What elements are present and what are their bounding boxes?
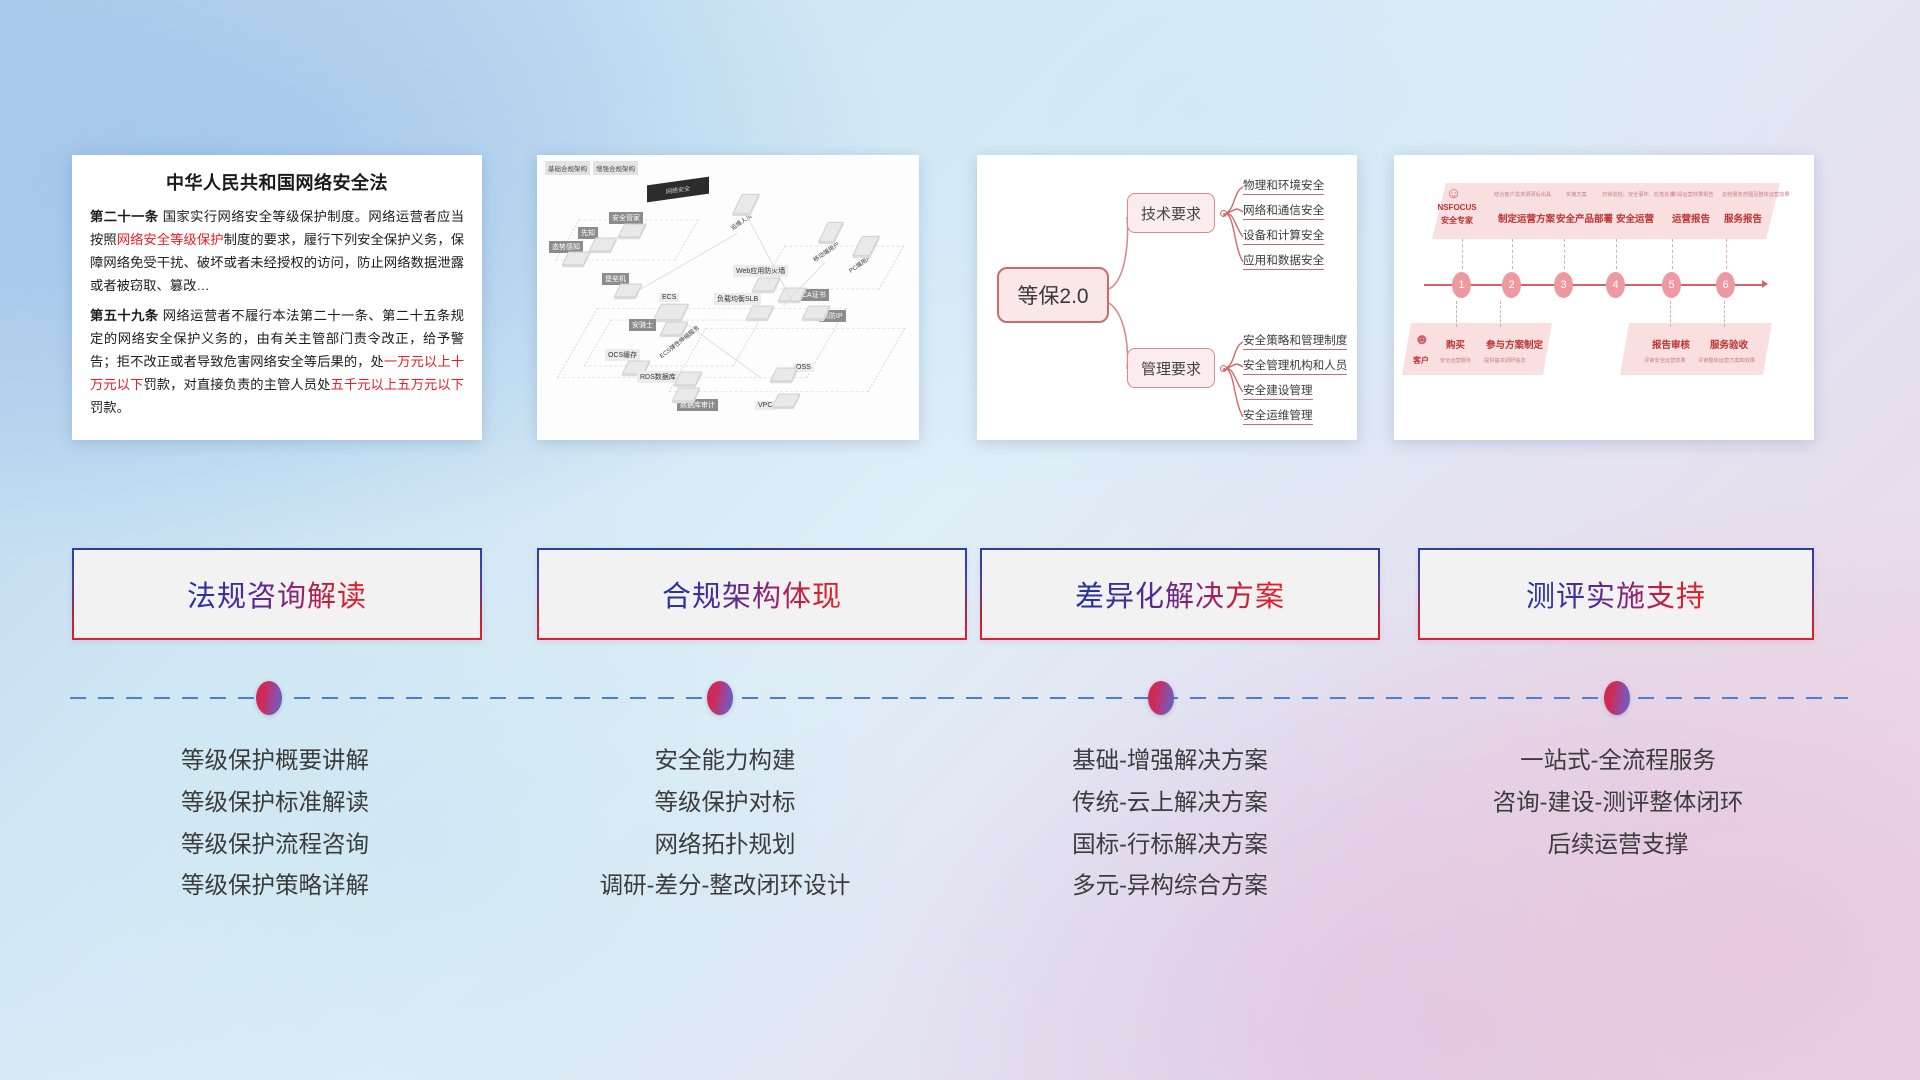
timeline-connector	[1672, 239, 1673, 269]
timeline-node-2[interactable]	[707, 681, 733, 715]
architecture-node-label: RDS数据库	[637, 371, 679, 383]
timeline-connector	[1724, 301, 1725, 327]
timeline-bottom-title: 购买	[1446, 337, 1465, 351]
customer-person-icon: ☻	[1414, 331, 1430, 348]
section-items-column-4: 一站式-全流程服务 咨询-建设-测评整体闭环 后续运营支撑	[1398, 740, 1838, 865]
section-items-column-1: 等级保护概要讲解 等级保护标准解读 等级保护流程咨询 等级保护策略详解	[60, 740, 490, 907]
timeline-bottom-title: 参与方案制定	[1486, 337, 1543, 351]
timeline-bottom-sub: 评审整体运营方案和效果	[1698, 357, 1755, 364]
architecture-tabs[interactable]: 基础合规架构 增强合规架构	[545, 161, 638, 175]
section-title-label: 合规架构体现	[662, 573, 842, 615]
timeline-band-bottom-right	[1620, 323, 1772, 375]
architecture-tab-enhanced[interactable]: 增强合规架构	[593, 161, 638, 175]
timeline-role-expert-line2: 安全专家	[1426, 215, 1488, 226]
timeline-connector	[1456, 301, 1457, 327]
section-title-box-4[interactable]: 测评实施支持	[1418, 548, 1814, 640]
architecture-node-label: 安全管家	[609, 212, 643, 224]
card-cybersecurity-law[interactable]: 中华人民共和国网络安全法 第二十一条 国家实行网络安全等级保护制度。网络运营者应…	[72, 155, 482, 440]
law-article-21: 第二十一条 国家实行网络安全等级保护制度。网络运营者应当按照网络安全等级保护制度…	[90, 206, 464, 297]
mindmap-canvas: 等保2.0 技术要求 物理和环境安全 网络和通信安全 设备和计算安全 应用和数据…	[977, 155, 1357, 440]
architecture-canvas: 基础合规架构 增强合规架构 网络安全 安全管家 先知 态势感知 堡垒机 ECS …	[537, 155, 919, 440]
timeline-bottom-title: 报告审核	[1652, 337, 1690, 351]
mindmap-leaf: 安全建设管理	[1243, 382, 1313, 400]
timeline-role-customer: 客户	[1406, 355, 1436, 366]
mindmap-leaf: 应用和数据安全	[1243, 252, 1324, 270]
section-item: 基础-增强解决方案	[955, 740, 1385, 782]
law-article-59-label: 第五十九条	[90, 308, 159, 323]
timeline-step-marker[interactable]: 6	[1716, 272, 1735, 298]
timeline-bottom-sub: 安全运营服务	[1440, 357, 1471, 364]
timeline-arrow-icon	[1762, 280, 1768, 288]
timeline-node-1[interactable]	[256, 681, 282, 715]
architecture-node-label: OCS缓存	[605, 349, 640, 361]
section-item: 传统-云上解决方案	[955, 782, 1385, 824]
timeline-top-title: 安全运营	[1616, 211, 1654, 225]
law-article-59-highlight-2: 五千元以上五万元以下	[330, 377, 464, 392]
section-item: 安全能力构建	[510, 740, 940, 782]
mindmap-leaf: 物理和环境安全	[1243, 177, 1324, 195]
timeline-node-3[interactable]	[1148, 681, 1174, 715]
user-icon	[732, 194, 760, 214]
section-title-label: 差异化解决方案	[1075, 573, 1285, 615]
timeline-top-title: 制定运营方案	[1498, 211, 1555, 225]
timeline-top-sub: 结合客户需求调研后出具	[1494, 191, 1551, 198]
timeline-step-marker[interactable]: 2	[1502, 272, 1521, 298]
timeline-top-title: 服务报告	[1724, 211, 1762, 225]
law-document: 中华人民共和国网络安全法 第二十一条 国家实行网络安全等级保护制度。网络运营者应…	[72, 155, 482, 438]
timeline-top-title: 安全产品部署	[1556, 211, 1613, 225]
mindmap-leaf: 设备和计算安全	[1243, 227, 1324, 245]
mobile-icon	[818, 222, 844, 242]
architecture-node-label: ECS	[659, 293, 679, 302]
timeline-dashed-line	[70, 697, 1848, 699]
timeline-connector	[1616, 239, 1617, 269]
card-mindmap-dengbao[interactable]: 等保2.0 技术要求 物理和环境安全 网络和通信安全 设备和计算安全 应用和数据…	[977, 155, 1357, 440]
timeline-bottom-sub: 评审安全运营效果	[1644, 357, 1686, 364]
section-items-row: 等级保护概要讲解 等级保护标准解读 等级保护流程咨询 等级保护策略详解 安全能力…	[0, 740, 1920, 970]
mindmap-leaf: 安全运维管理	[1243, 407, 1313, 425]
section-item: 网络拓扑规划	[510, 824, 940, 866]
timeline-top-sub: 日常巡检、安全事件、应急处置	[1602, 191, 1675, 198]
mindmap-leaf: 安全策略和管理制度	[1243, 332, 1347, 350]
section-item: 等级保护概要讲解	[60, 740, 490, 782]
section-item: 等级保护策略详解	[60, 865, 490, 907]
law-article-59: 第五十九条 网络运营者不履行本法第二十一条、第二十五条规定的网络安全保护义务的，…	[90, 305, 464, 419]
mindmap-expand-icon[interactable]	[1220, 210, 1227, 217]
timeline-bottom-sub: 提供基本调研信息	[1484, 357, 1526, 364]
timeline-node-4[interactable]	[1604, 681, 1630, 715]
law-article-59-mid: 罚款，对直接负责的主管人员处	[143, 377, 330, 392]
architecture-node-label: 负载均衡SLB	[714, 293, 761, 305]
vpc-cube-icon	[772, 394, 801, 408]
timeline-connector	[1500, 301, 1501, 327]
reference-cards-row: 中华人民共和国网络安全法 第二十一条 国家实行网络安全等级保护制度。网络运营者应…	[0, 155, 1920, 445]
mindmap-branch-management[interactable]: 管理要求	[1127, 348, 1215, 388]
section-items-column-2: 安全能力构建 等级保护对标 网络拓扑规划 调研-差分-整改闭环设计	[510, 740, 940, 907]
law-article-59-end: 罚款。	[90, 400, 130, 415]
timeline-connector	[1462, 239, 1463, 269]
section-item: 咨询-建设-测评整体闭环	[1398, 782, 1838, 824]
timeline-connector	[1670, 301, 1671, 327]
section-item: 等级保护标准解读	[60, 782, 490, 824]
timeline-axis	[1424, 284, 1764, 286]
law-title: 中华人民共和国网络安全法	[90, 169, 464, 195]
mindmap-leaf: 网络和通信安全	[1243, 202, 1324, 220]
firewall-cube-icon	[752, 278, 781, 292]
timeline-step-marker[interactable]: 3	[1554, 272, 1573, 298]
section-item: 一站式-全流程服务	[1398, 740, 1838, 782]
section-title-label: 法规咨询解读	[187, 573, 367, 615]
timeline-connector	[1512, 239, 1513, 269]
architecture-banner: 网络安全	[647, 177, 709, 203]
section-title-box-2[interactable]: 合规架构体现	[537, 548, 967, 640]
timeline-top-sub: 阶段运营效果报告	[1672, 191, 1714, 198]
section-title-box-1[interactable]: 法规咨询解读	[72, 548, 482, 640]
architecture-tab-basic[interactable]: 基础合规架构	[545, 161, 590, 175]
service-timeline-canvas: ☺ NSFOCUS 安全专家 结合客户需求调研后出具 制定运营方案 实施方案 安…	[1394, 155, 1814, 440]
section-item: 等级保护流程咨询	[60, 824, 490, 866]
section-items-column-3: 基础-增强解决方案 传统-云上解决方案 国标-行标解决方案 多元-异构综合方案	[955, 740, 1385, 907]
section-titles-row: 法规咨询解读 合规架构体现 差异化解决方案 测评实施支持	[0, 548, 1920, 644]
timeline-connector	[1726, 239, 1727, 269]
section-item: 多元-异构综合方案	[955, 865, 1385, 907]
timeline-step-marker[interactable]: 1	[1452, 272, 1471, 298]
section-item: 国标-行标解决方案	[955, 824, 1385, 866]
timeline-top-sub: 总结服务范围及整体运营效果	[1722, 191, 1789, 198]
architecture-node-label: Web应用防火墙	[733, 265, 788, 277]
expert-person-icon: ☺	[1446, 185, 1461, 202]
mindmap-expand-icon[interactable]	[1220, 365, 1227, 372]
section-title-box-3[interactable]: 差异化解决方案	[980, 548, 1380, 640]
section-item: 后续运营支撑	[1398, 824, 1838, 866]
section-title-label: 测评实施支持	[1526, 573, 1706, 615]
timeline-role-expert-line1: NSFOCUS	[1426, 203, 1488, 212]
mindmap-leaf: 安全管理机构和人员	[1243, 357, 1347, 375]
architecture-node-label: 安骑士	[629, 319, 656, 331]
timeline-top-sub: 实施方案	[1566, 191, 1587, 198]
card-architecture-diagram[interactable]: 基础合规架构 增强合规架构 网络安全 安全管家 先知 态势感知 堡垒机 ECS …	[537, 155, 919, 440]
server-cube-icon	[562, 252, 591, 266]
section-item: 等级保护对标	[510, 782, 940, 824]
timeline-bottom-title: 服务验收	[1710, 337, 1748, 351]
law-article-21-label: 第二十一条	[90, 209, 159, 224]
timeline-step-marker[interactable]: 5	[1662, 272, 1681, 298]
timeline-top-title: 运营报告	[1672, 211, 1710, 225]
section-item: 调研-差分-整改闭环设计	[510, 865, 940, 907]
law-article-21-highlight: 网络安全等级保护	[117, 232, 224, 247]
mindmap-branch-technical[interactable]: 技术要求	[1127, 193, 1215, 233]
card-service-timeline[interactable]: ☺ NSFOCUS 安全专家 结合客户需求调研后出具 制定运营方案 实施方案 安…	[1394, 155, 1814, 440]
timeline-connector	[1564, 239, 1565, 269]
timeline-step-marker[interactable]: 4	[1606, 272, 1625, 298]
